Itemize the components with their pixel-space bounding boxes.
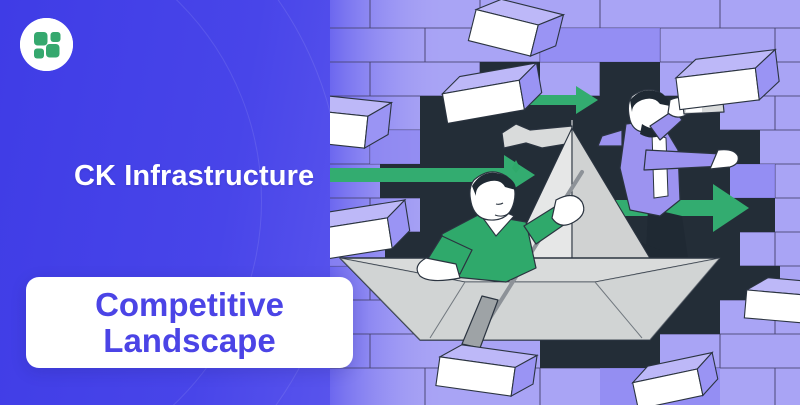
hero-illustration bbox=[330, 0, 800, 405]
promo-banner: CK Infrastructure Competitive Landscape bbox=[0, 0, 800, 405]
kicker-text: CK Infrastructure bbox=[74, 160, 314, 193]
page-title: Competitive Landscape bbox=[95, 287, 284, 358]
brand-logo[interactable] bbox=[20, 18, 73, 71]
grid-logo-icon bbox=[20, 18, 73, 71]
title-card: Competitive Landscape bbox=[26, 277, 353, 368]
